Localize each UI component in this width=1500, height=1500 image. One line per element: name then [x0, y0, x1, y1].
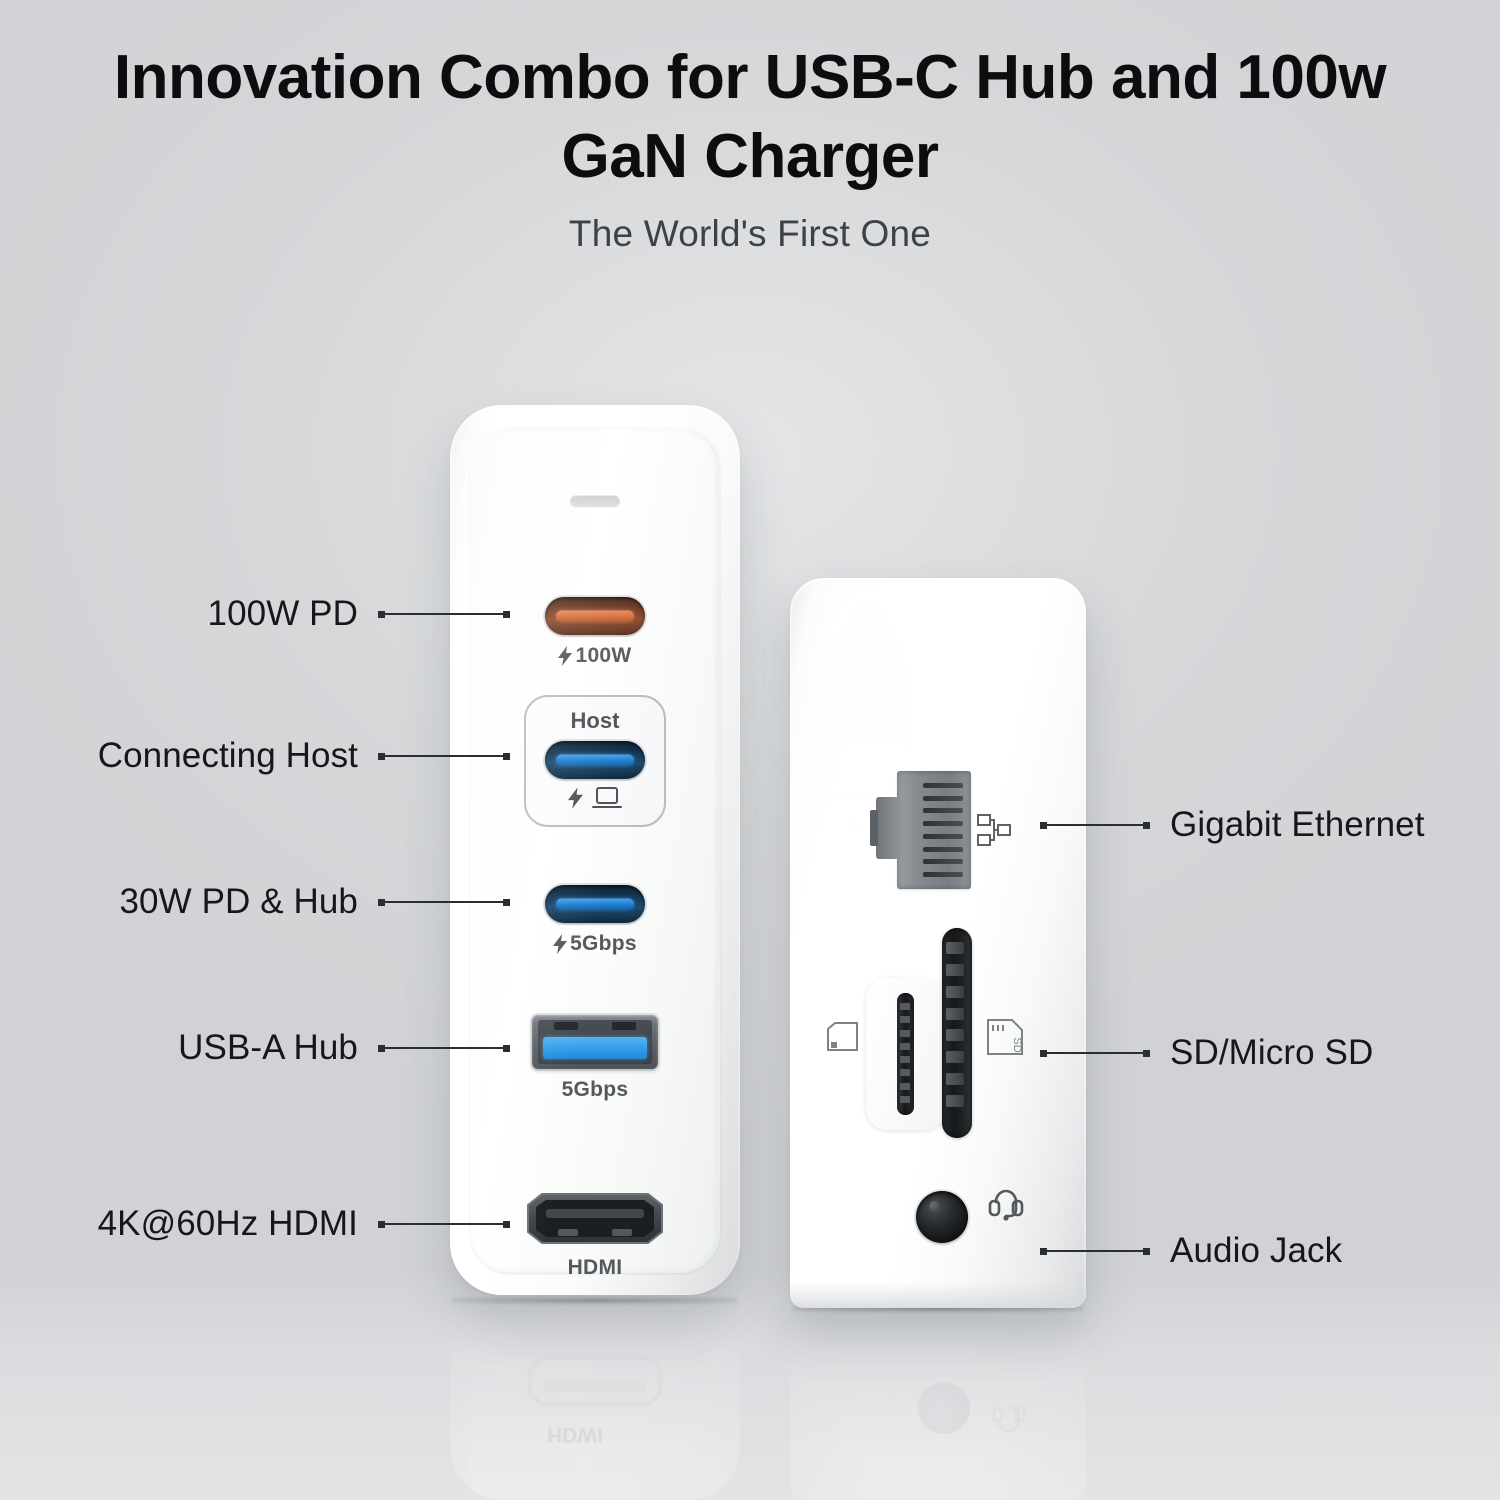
usb-c-tongue [556, 899, 634, 910]
callout-pd-100w: 100W PD [0, 594, 510, 634]
port-caption-text: HDMI [568, 1256, 623, 1280]
right-device-base [790, 1282, 1086, 1308]
leader-line [378, 1221, 510, 1228]
floor-gradient [0, 1270, 1500, 1500]
lightning-bolt-icon [553, 934, 568, 954]
micro-sd-contacts [900, 1003, 910, 1103]
callout-label: SD/Micro SD [1170, 1033, 1373, 1073]
callout-label: 4K@60Hz HDMI [98, 1204, 358, 1244]
lightning-bolt-icon [558, 646, 573, 666]
page-title: Innovation Combo for USB-C Hub and 100w … [0, 38, 1500, 197]
host-label: Host [571, 708, 620, 734]
port-caption-usb-a: 5Gbps [470, 1078, 720, 1102]
rj45-latch [876, 797, 898, 859]
micro-sd-card-icon [826, 1022, 860, 1052]
port-caption-text: 5Gbps [562, 1078, 629, 1102]
leader-line [1040, 1050, 1150, 1057]
callout-label: Audio Jack [1170, 1231, 1342, 1271]
leader-line [378, 753, 510, 760]
led-indicator [570, 495, 620, 507]
hdmi-port[interactable] [520, 1191, 670, 1247]
left-device-contact-shadow [452, 1298, 738, 1303]
usb-a-port[interactable] [532, 1015, 658, 1069]
laptop-icon [592, 786, 622, 815]
port-caption-100w: 100W [470, 644, 720, 668]
callout-sd: SD/Micro SD [1040, 1033, 1373, 1073]
left-device-face: 100W Host [470, 427, 720, 1273]
micro-sd-slot[interactable] [897, 993, 914, 1115]
right-device-hub: SD [790, 578, 1086, 1308]
usb-c-port-100w[interactable] [545, 597, 645, 635]
header: Innovation Combo for USB-C Hub and 100w … [0, 38, 1500, 255]
callout-pd-30w-hub: 30W PD & Hub [0, 882, 510, 922]
leader-line [1040, 822, 1150, 829]
usb-a-nub-right [612, 1022, 636, 1030]
left-device-charger: 100W Host [450, 405, 740, 1295]
callout-label: USB-A Hub [178, 1028, 358, 1068]
callout-ethernet: Gigabit Ethernet [1040, 805, 1425, 845]
usb-c-port-host[interactable] [545, 741, 645, 779]
headset-icon [986, 1184, 1026, 1228]
port-caption-text: 100W [575, 644, 631, 668]
rj45-ethernet-port[interactable] [897, 771, 971, 889]
svg-text:SD: SD [1011, 1037, 1023, 1052]
callout-audio: Audio Jack [1040, 1231, 1342, 1271]
page-subtitle: The World's First One [0, 213, 1500, 255]
usb-c-port-30w[interactable] [545, 885, 645, 923]
usb-c-tongue [556, 754, 634, 765]
usb-a-nub-left [554, 1022, 578, 1030]
callout-host: Connecting Host [0, 736, 510, 776]
port-caption-30w: 5Gbps [470, 932, 720, 956]
callout-label: 30W PD & Hub [119, 882, 358, 922]
callout-label: Gigabit Ethernet [1170, 805, 1425, 845]
leader-line [378, 611, 510, 618]
network-icon [977, 811, 1013, 849]
leader-line [1040, 1248, 1150, 1255]
callout-usb-a-hub: USB-A Hub [0, 1028, 510, 1068]
port-host-group[interactable]: Host [524, 695, 666, 827]
port-caption-text: 5Gbps [570, 932, 637, 956]
usb-c-tongue [556, 611, 634, 622]
host-icon-row [568, 786, 622, 815]
sd-card-slot[interactable] [942, 928, 972, 1138]
callout-label: Connecting Host [98, 736, 358, 776]
lightning-bolt-icon [568, 787, 584, 814]
leader-line [378, 899, 510, 906]
callout-hdmi: 4K@60Hz HDMI [0, 1204, 510, 1244]
rj45-pins [923, 783, 963, 877]
leader-line [378, 1045, 510, 1052]
usb-a-tongue [543, 1037, 647, 1059]
audio-jack-port[interactable] [916, 1191, 968, 1243]
sd-contacts [946, 942, 964, 1107]
sd-card-icon: SD [986, 1018, 1024, 1056]
callout-label: 100W PD [208, 594, 358, 634]
port-caption-hdmi: HDMI [470, 1256, 720, 1280]
